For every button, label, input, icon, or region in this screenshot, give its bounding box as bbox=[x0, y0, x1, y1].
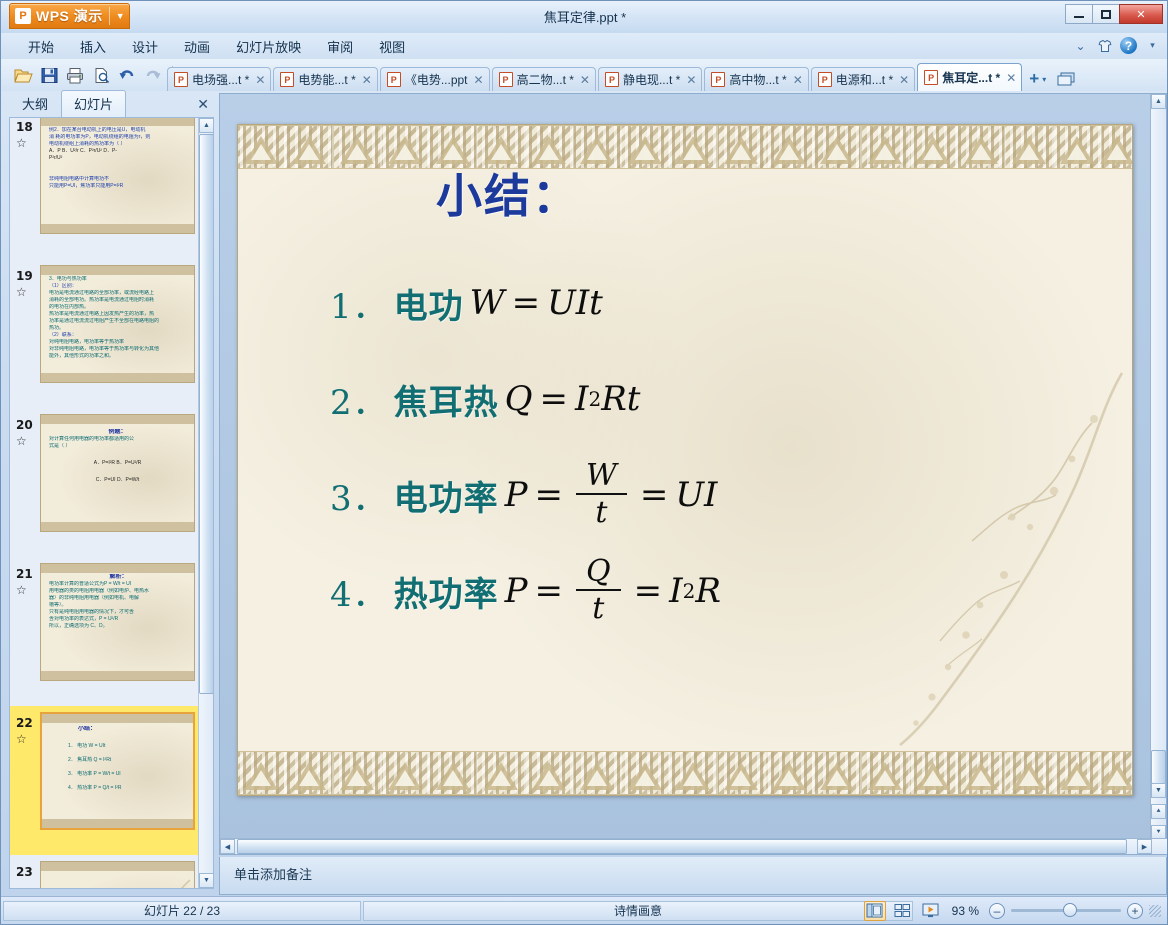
scrollbar-thumb[interactable] bbox=[1151, 750, 1166, 784]
thumb-line: 例题： bbox=[49, 429, 186, 436]
thumb-line: 对计算任何用电器的电功率都适用的公 bbox=[49, 436, 186, 443]
window-title: 焦耳定律.ppt * bbox=[1, 7, 1168, 26]
close-panel-icon[interactable]: ✕ bbox=[197, 96, 209, 113]
formula-1: W = UIt bbox=[470, 283, 603, 323]
slideshow-button[interactable] bbox=[920, 901, 942, 921]
slide-border-pattern-bottom bbox=[238, 751, 1133, 795]
thumb-line: 用电器的类的电阻用电器（例如电炉、电热水 bbox=[49, 588, 188, 595]
formula-2: Q = I 2 Rt bbox=[505, 379, 641, 419]
thumb-line: A．P B．U²/r C．P²r/U² D．P- bbox=[49, 148, 188, 155]
thumb-line: 解析： bbox=[49, 574, 188, 581]
thumb-line: 所以，正确选项为 C、D。 bbox=[49, 623, 188, 630]
animation-star-icon: ☆ bbox=[16, 136, 27, 150]
close-icon[interactable]: ✕ bbox=[793, 73, 803, 87]
list-item[interactable]: 21 ☆ 解析： 电功率计算的普适公式为P = W/t = UI 用电器的类的电… bbox=[10, 557, 200, 706]
formula-operator: = bbox=[535, 475, 564, 515]
close-icon[interactable]: ✕ bbox=[1006, 71, 1016, 85]
formula-exponent: 2 bbox=[588, 387, 601, 411]
ppt-file-icon: P bbox=[174, 72, 188, 87]
tab-slides[interactable]: 幻灯片 bbox=[61, 90, 126, 117]
ppt-file-icon: P bbox=[818, 72, 832, 87]
scroll-left-arrow-icon[interactable]: ◀ bbox=[220, 839, 235, 854]
print-preview-icon[interactable] bbox=[89, 63, 113, 87]
fraction-numerator: W bbox=[576, 461, 627, 491]
slide-horizontal-scrollbar[interactable]: ◀ ▶ bbox=[220, 838, 1168, 854]
bullet-label: 热功率 bbox=[394, 567, 499, 616]
thumb-line: 只有是纯电阻用电器的情况下，才可含 bbox=[49, 609, 188, 616]
previous-slide-button[interactable]: ⯅ bbox=[1151, 804, 1166, 819]
formula-exponent: 2 bbox=[683, 579, 696, 603]
scroll-up-arrow-icon[interactable]: ▲ bbox=[199, 118, 214, 133]
scroll-down-arrow-icon[interactable]: ▼ bbox=[199, 873, 214, 888]
thumb-line: C．P=UI D．P=W/t bbox=[49, 477, 186, 484]
thumb-line: （2）联系： bbox=[49, 332, 188, 339]
thumb-line: 电功率计算的普适公式为P = W/t = UI bbox=[49, 581, 188, 588]
thumb-line: 消 耗的电功率为P，电动机绕组的电阻为r，则 bbox=[49, 134, 188, 141]
thumb-line: 例2．加在某台电动机上的电压是U，电动机 bbox=[49, 127, 188, 134]
list-item[interactable]: 19 ☆ 3．电功与热功率 （1）区别： 电功是电流通过电路的全部功率，或流经电… bbox=[10, 259, 200, 408]
list-item[interactable]: 20 ☆ 例题： 对计算任何用电器的电功率都适用的公 式是（ ） A．P=I²R… bbox=[10, 408, 200, 557]
close-icon[interactable]: ✕ bbox=[474, 73, 484, 87]
print-icon[interactable] bbox=[63, 63, 87, 87]
formula-rhs: UIt bbox=[547, 283, 603, 323]
status-bar: 幻灯片 22 / 23 诗情画意 93 % – + bbox=[1, 896, 1168, 924]
slide-thumbnail-active[interactable]: 小结： 1． 电功 W = UIt 2． 焦耳热 Q = I²Rt 3． 电功率… bbox=[40, 712, 195, 830]
animation-star-icon: ☆ bbox=[16, 732, 27, 746]
doc-tab-label: 《电势...ppt bbox=[405, 71, 468, 88]
fraction: Q t bbox=[576, 557, 621, 625]
doc-tab-0[interactable]: P 电场强...t * ✕ bbox=[167, 67, 271, 91]
thumb-line: 能外，其他形式的功率之和。 bbox=[49, 353, 188, 360]
thumb-line: 式是（ ） bbox=[49, 443, 186, 450]
menu-item-view[interactable]: 视图 bbox=[366, 34, 418, 59]
slide-number: 21 bbox=[16, 567, 38, 582]
list-item[interactable]: 18 ☆ 例2．加在某台电动机上的电压是U，电动机 消 耗的电功率为P，电动机绕… bbox=[10, 118, 200, 259]
notes-pane[interactable]: 单击添加备注 bbox=[219, 857, 1167, 895]
doc-tab-label: 静电现...t * bbox=[623, 71, 680, 88]
thumb-line: （1）区别： bbox=[49, 283, 188, 290]
fraction-denominator: t bbox=[592, 593, 604, 625]
bullet-number: 2． bbox=[330, 375, 388, 424]
thumb-line: 槽等）。 bbox=[49, 602, 188, 609]
close-icon[interactable]: ✕ bbox=[686, 73, 696, 87]
zoom-out-button[interactable]: – bbox=[989, 903, 1005, 919]
dropdown-caret-icon[interactable]: ▾ bbox=[1144, 37, 1161, 54]
doc-tab-4[interactable]: P 静电现...t * ✕ bbox=[598, 67, 702, 91]
bullet-number: 4． bbox=[330, 567, 388, 616]
slides-panel: 大纲 幻灯片 ✕ 18 ☆ 例2．加在某台电动机上的电压是U，电动机 消 耗的电… bbox=[3, 93, 217, 893]
animation-star-icon: ☆ bbox=[16, 285, 27, 299]
bullet-label: 电功 bbox=[394, 279, 464, 328]
list-item-selected[interactable]: 22 ☆ 小结： 1． 电功 W = UIt 2． 焦耳热 Q = I²Rt 3… bbox=[10, 706, 200, 855]
thumb-line: 消耗的全部电功。热功率是电流通过电阻时消耗 bbox=[49, 297, 188, 304]
formula-lhs: W bbox=[470, 283, 505, 323]
ppt-file-icon: P bbox=[924, 70, 938, 85]
thumb-line: 热功率是电流通过电路上因发热产生的功率，热 bbox=[49, 311, 188, 318]
thumb-line: 电动机绕组上消耗的热功率为（ ） bbox=[49, 141, 188, 148]
skin-icon[interactable] bbox=[1096, 37, 1113, 54]
open-icon[interactable] bbox=[11, 63, 35, 87]
menu-item-slideshow[interactable]: 幻灯片放映 bbox=[223, 34, 314, 59]
slide-body: 1． 电功 W = UIt 2． 焦耳热 Q = I bbox=[238, 255, 1133, 639]
scroll-down-arrow-icon[interactable]: ▼ bbox=[1151, 783, 1166, 798]
doc-tab-2[interactable]: P 《电势...ppt ✕ bbox=[380, 67, 490, 91]
close-icon[interactable]: ✕ bbox=[899, 73, 909, 87]
bullet-label: 电功率 bbox=[394, 471, 499, 520]
thumbnail-scrollbar[interactable]: ▲ ▼ bbox=[198, 118, 213, 888]
formula-rhs-tail: Rt bbox=[601, 379, 640, 419]
slide-number: 22 bbox=[16, 716, 38, 731]
thumb-line: 4． 热功率 P = Q/t = I²R bbox=[50, 781, 185, 795]
thumb-line: 3． 电功率 P = W/t = UI bbox=[50, 767, 185, 781]
fraction: W t bbox=[576, 461, 627, 529]
slide-number: 20 bbox=[16, 418, 38, 433]
slide-vertical-scrollbar[interactable]: ▲ ▼ ⯅ ⯆ bbox=[1150, 94, 1166, 840]
chevron-down-icon[interactable]: ⌄ bbox=[1072, 37, 1089, 54]
ppt-file-icon: P bbox=[280, 72, 294, 87]
help-icon[interactable]: ? bbox=[1120, 37, 1137, 54]
formula-4: P = Q t = I 2 R bbox=[505, 557, 721, 625]
scroll-up-arrow-icon[interactable]: ▲ bbox=[1151, 94, 1166, 109]
plum-branch-decoration bbox=[102, 878, 192, 888]
window-list-icon[interactable] bbox=[1056, 69, 1076, 89]
thumb-line: 2． 焦耳热 Q = I²Rt bbox=[50, 753, 185, 767]
thumb-line: 器）的非纯电阻用电器（例如电机、电解 bbox=[49, 595, 188, 602]
list-item[interactable]: 23 bbox=[10, 855, 200, 888]
slide-thumbnail[interactable] bbox=[40, 861, 195, 888]
thumb-line: 功率是通过电流流过电阻产生不全部在电路电阻的 bbox=[49, 318, 188, 325]
close-icon[interactable]: ✕ bbox=[255, 73, 265, 87]
thumb-line: 只能用P=UI，焦功率只能用P=I²R bbox=[49, 183, 188, 190]
bullet-item-4[interactable]: 4． 热功率 P = Q t = I 2 R bbox=[238, 543, 1133, 639]
doc-tab-label: 电源和...t * bbox=[836, 71, 893, 88]
formula-rhs-base: I bbox=[575, 379, 588, 419]
normal-view-button[interactable] bbox=[864, 901, 886, 921]
animation-star-icon: ☆ bbox=[16, 583, 27, 597]
formula-rhs-base: I bbox=[669, 571, 682, 611]
minimize-button[interactable] bbox=[1065, 4, 1093, 24]
thumb-line: 3．电功与热功率 bbox=[49, 276, 188, 283]
thumb-line: 小结： bbox=[50, 726, 185, 733]
thumbnail-scroll-area[interactable]: 18 ☆ 例2．加在某台电动机上的电压是U，电动机 消 耗的电功率为P，电动机绕… bbox=[10, 118, 200, 888]
ppt-file-icon: P bbox=[387, 72, 401, 87]
doc-tab-label: 高二物...t * bbox=[517, 71, 574, 88]
menu-item-design[interactable]: 设计 bbox=[119, 34, 171, 59]
zoom-slider-thumb[interactable] bbox=[1063, 903, 1077, 917]
theme-name: 诗情画意 bbox=[363, 901, 913, 921]
slide-editing-area: 小结： 1． 电功 W = UIt 2． 焦耳热 bbox=[219, 93, 1167, 855]
doc-tab-3[interactable]: P 高二物...t * ✕ bbox=[492, 67, 596, 91]
redo-icon[interactable] bbox=[141, 63, 165, 87]
thumb-line: 对纯电阻电路，电功率等于热功率 bbox=[49, 339, 188, 346]
scrollbar-thumb[interactable] bbox=[237, 839, 1127, 854]
thumb-line: 对非纯电阻电路，电功率等于热功率与转化为其他 bbox=[49, 346, 188, 353]
menu-bar: 开始 插入 设计 动画 幻灯片放映 审阅 视图 ⌄ ? ▾ bbox=[1, 33, 1168, 59]
thumb-line: 热功。 bbox=[49, 325, 188, 332]
undo-icon[interactable] bbox=[115, 63, 139, 87]
fraction-denominator: t bbox=[595, 497, 607, 529]
formula-lhs: P bbox=[505, 475, 528, 515]
formula-operator: = bbox=[535, 571, 564, 611]
menu-item-home[interactable]: 开始 bbox=[15, 34, 67, 59]
thumbnail-list: 18 ☆ 例2．加在某台电动机上的电压是U，电动机 消 耗的电功率为P，电动机绕… bbox=[9, 117, 214, 889]
doc-tab-7-active[interactable]: P 焦耳定...t * ✕ bbox=[917, 63, 1022, 91]
add-tab-caret-icon[interactable]: ▾ bbox=[1042, 75, 1050, 84]
fraction-numerator: Q bbox=[576, 557, 621, 587]
save-icon[interactable] bbox=[37, 63, 61, 87]
animation-star-icon: ☆ bbox=[16, 434, 27, 448]
doc-tab-label: 焦耳定...t * bbox=[942, 69, 1000, 86]
ppt-file-icon: P bbox=[605, 72, 619, 87]
slide-border-pattern-top bbox=[238, 125, 1133, 169]
slide-sorter-button[interactable] bbox=[892, 901, 914, 921]
slide-number: 23 bbox=[16, 865, 38, 880]
bullet-number: 1． bbox=[330, 279, 388, 328]
close-button[interactable]: ✕ bbox=[1119, 4, 1163, 24]
slide-number: 18 bbox=[16, 120, 38, 135]
close-icon[interactable]: ✕ bbox=[362, 73, 372, 87]
slide-thumbnail[interactable]: 解析： 电功率计算的普适公式为P = W/t = UI 用电器的类的电阻用电器（… bbox=[40, 563, 195, 681]
panel-tab-bar: 大纲 幻灯片 ✕ bbox=[3, 93, 217, 117]
add-tab-button[interactable]: + bbox=[1026, 69, 1042, 89]
formula-rhs: UI bbox=[675, 475, 717, 515]
resize-grip-icon[interactable] bbox=[1149, 905, 1161, 917]
doc-tab-1[interactable]: P 电势能...t * ✕ bbox=[273, 67, 377, 91]
formula-lhs: P bbox=[505, 571, 528, 611]
zoom-slider[interactable] bbox=[1011, 909, 1121, 912]
slide-counter: 幻灯片 22 / 23 bbox=[3, 901, 361, 921]
document-tab-bar: P 电场强...t * ✕ P 电势能...t * ✕ P 《电势...ppt … bbox=[167, 62, 1076, 91]
formula-operator-2: = bbox=[634, 571, 663, 611]
formula-operator-2: = bbox=[640, 475, 669, 515]
formula-3: P = W t = UI bbox=[505, 461, 718, 529]
doc-tab-label: 高中物...t * bbox=[729, 71, 786, 88]
zoom-level: 93 % bbox=[952, 904, 979, 918]
restore-button[interactable] bbox=[1092, 4, 1120, 24]
slide-thumbnail[interactable]: 例2．加在某台电动机上的电压是U，电动机 消 耗的电功率为P，电动机绕组的电阻为… bbox=[40, 118, 195, 234]
bullet-item-1[interactable]: 1． 电功 W = UIt bbox=[238, 255, 1133, 351]
thumb-line: 含对电功率的表达式，P = U²/R bbox=[49, 616, 188, 623]
doc-tab-label: 电场强...t * bbox=[192, 71, 249, 88]
scrollbar-thumb[interactable] bbox=[199, 134, 214, 694]
doc-tab-5[interactable]: P 高中物...t * ✕ bbox=[704, 67, 808, 91]
close-icon[interactable]: ✕ bbox=[580, 73, 590, 87]
slide-title[interactable]: 小结： bbox=[436, 160, 580, 226]
thumb-line: 1． 电功 W = UIt bbox=[50, 739, 185, 753]
formula-rhs-tail: R bbox=[695, 571, 721, 611]
thumb-line: 的电功在内部热。 bbox=[49, 304, 188, 311]
menu-item-review[interactable]: 审阅 bbox=[314, 34, 366, 59]
slide-number: 19 bbox=[16, 269, 38, 284]
new-tab-group: + ▾ bbox=[1026, 67, 1076, 91]
menu-item-insert[interactable]: 插入 bbox=[67, 34, 119, 59]
formula-operator: = bbox=[540, 379, 569, 419]
bullet-label: 焦耳热 bbox=[394, 375, 499, 424]
slide-thumbnail[interactable]: 3．电功与热功率 （1）区别： 电功是电流通过电路的全部功率，或流经电路上 消耗… bbox=[40, 265, 195, 383]
doc-tab-label: 电势能...t * bbox=[298, 71, 355, 88]
formula-operator: = bbox=[512, 283, 541, 323]
status-right-group: 93 % – + bbox=[864, 901, 1161, 921]
wps-presentation-window: P WPS 演示 ▼ 焦耳定律.ppt * ✕ 开始 插入 设计 动画 幻灯片放… bbox=[0, 0, 1168, 925]
menu-right-icons: ⌄ ? ▾ bbox=[1072, 37, 1161, 54]
formula-lhs: Q bbox=[505, 379, 533, 419]
doc-tab-6[interactable]: P 电源和...t * ✕ bbox=[811, 67, 915, 91]
window-controls: ✕ bbox=[1066, 4, 1163, 24]
title-bar: P WPS 演示 ▼ 焦耳定律.ppt * ✕ bbox=[1, 1, 1168, 33]
zoom-in-button[interactable]: + bbox=[1127, 903, 1143, 919]
ppt-file-icon: P bbox=[499, 72, 513, 87]
bullet-number: 3． bbox=[330, 471, 388, 520]
bullet-item-2[interactable]: 2． 焦耳热 Q = I 2 Rt bbox=[238, 351, 1133, 447]
slide-canvas[interactable]: 小结： 1． 电功 W = UIt 2． 焦耳热 bbox=[237, 124, 1133, 796]
menu-item-animation[interactable]: 动画 bbox=[171, 34, 223, 59]
thumb-line: P²r/U² bbox=[49, 155, 188, 162]
scroll-right-arrow-icon[interactable]: ▶ bbox=[1137, 839, 1152, 854]
thumb-line: A．P=I²R B．P=U²/R bbox=[49, 460, 186, 467]
thumb-line: 非纯电阻电路中计算电功不 bbox=[49, 176, 188, 183]
tab-outline[interactable]: 大纲 bbox=[9, 90, 61, 117]
ppt-file-icon: P bbox=[711, 72, 725, 87]
slide-thumbnail[interactable]: 例题： 对计算任何用电器的电功率都适用的公 式是（ ） A．P=I²R B．P=… bbox=[40, 414, 195, 532]
thumb-line: 电功是电流通过电路的全部功率，或流经电路上 bbox=[49, 290, 188, 297]
bullet-item-3[interactable]: 3． 电功率 P = W t = UI bbox=[238, 447, 1133, 543]
